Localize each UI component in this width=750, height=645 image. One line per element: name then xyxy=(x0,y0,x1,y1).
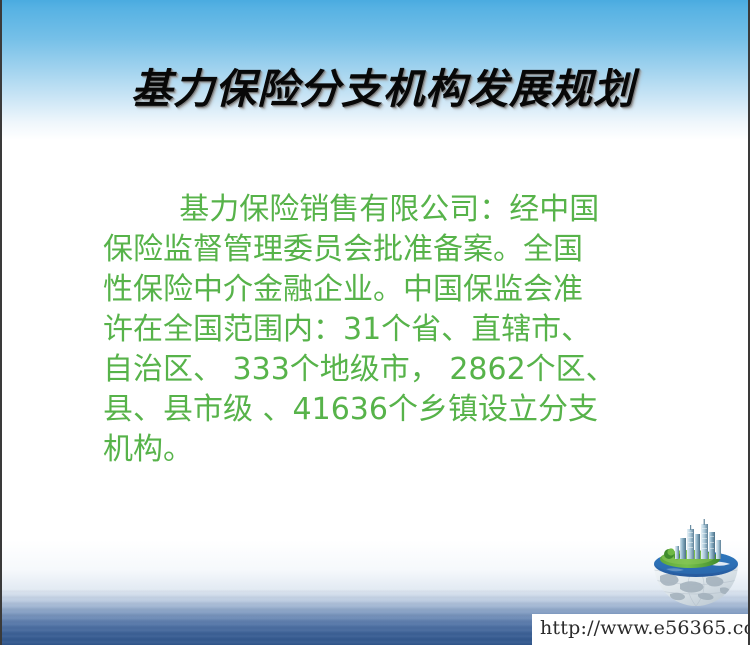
body-line: 县、县市级 、41636个乡镇设立分支 xyxy=(103,390,665,430)
slide-title: 基力保险分支机构发展规划 xyxy=(2,55,750,115)
body-line: 基力保险销售有限公司：经中国 xyxy=(103,190,665,230)
body-line: 自治区、 333个地级市， 2862个区、 xyxy=(103,350,665,390)
body-line: 性保险中介金融企业。中国保监会准 xyxy=(103,270,665,310)
watermark-banner: http://www.e56365.com xyxy=(532,614,750,645)
slide-body-text: 基力保险销售有限公司：经中国 保险监督管理委员会批准备案。全国 性保险中介金融企… xyxy=(103,190,665,470)
body-line: 保险监督管理委员会批准备案。全国 xyxy=(103,230,665,270)
body-line: 机构。 xyxy=(103,430,665,470)
presentation-slide: 基力保险分支机构发展规划 基力保险销售有限公司：经中国 保险监督管理委员会批准备… xyxy=(0,0,750,645)
watermark-url: http://www.e56365.com xyxy=(540,617,750,639)
earth-city-globe-icon xyxy=(650,518,742,606)
body-line: 许在全国范围内：31个省、直辖市、 xyxy=(103,310,665,350)
